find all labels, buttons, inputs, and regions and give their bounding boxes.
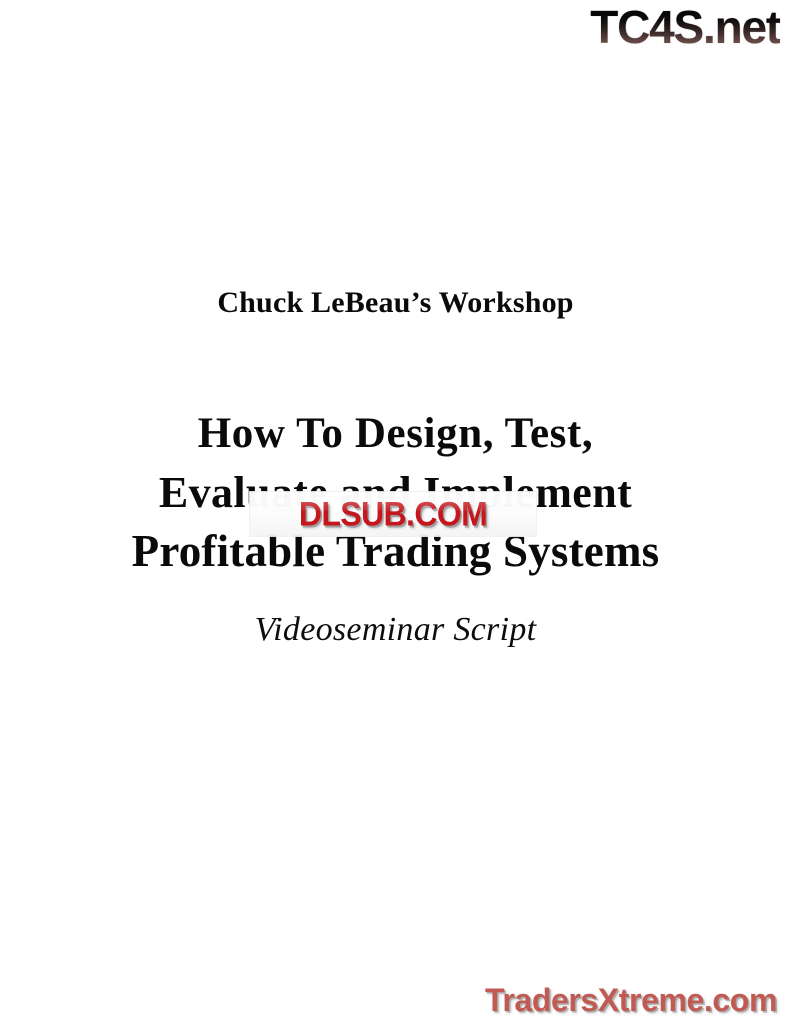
page-subtitle: Videoseminar Script xyxy=(0,610,791,651)
overlay-watermark-text: DLSUB.COM xyxy=(299,497,487,531)
title-block: Chuck LeBeau’s Workshop xyxy=(0,286,791,321)
site-logo-watermark: TC4S.net xyxy=(590,2,780,54)
footer-watermark: TradersXtreme.com xyxy=(485,983,777,1018)
overlay-watermark: DLSUB.COM xyxy=(250,492,536,536)
presenter-workshop-line: Chuck LeBeau’s Workshop xyxy=(0,286,791,321)
page-title-line-1: How To Design, Test, xyxy=(0,404,791,463)
document-page: TC4S.net Chuck LeBeau’s Workshop How To … xyxy=(0,0,791,1024)
